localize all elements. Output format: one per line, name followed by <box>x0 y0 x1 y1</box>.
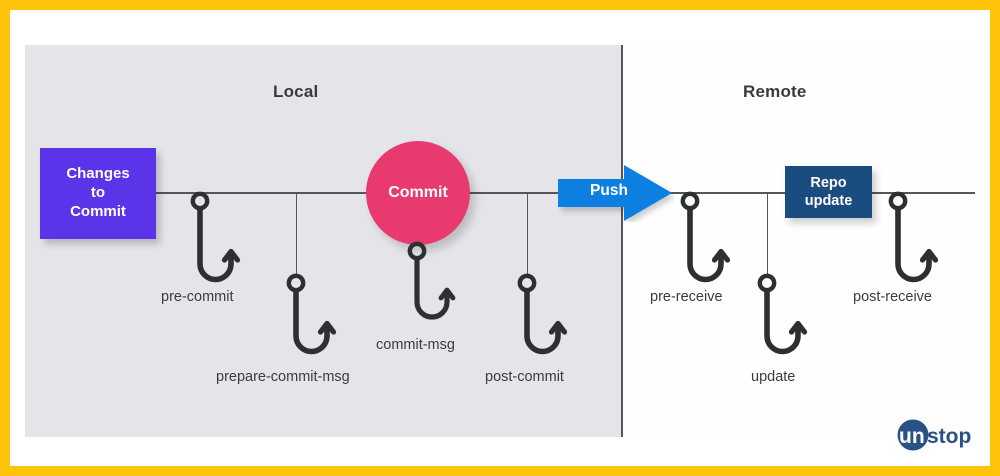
remote-section-title: Remote <box>743 82 807 102</box>
changes-box-line-2: to <box>91 184 105 203</box>
commit-node: Commit <box>366 141 470 245</box>
changes-box-line-1: Changes <box>66 165 129 184</box>
commit-node-label: Commit <box>388 184 448 202</box>
hook-label-post-commit: post-commit <box>485 369 564 385</box>
hook-label-pre-commit: pre-commit <box>161 289 234 305</box>
hook-label-commit-msg: commit-msg <box>376 337 455 353</box>
hook-icon-pre-commit <box>186 190 246 298</box>
connector-prepare-commit-msg <box>296 192 297 274</box>
hook-icon-update <box>753 272 813 370</box>
hook-icon-post-receive <box>884 190 944 298</box>
frame-border-right <box>990 0 1000 476</box>
unstop-logo-stop-text: stop <box>927 425 971 448</box>
changes-to-commit-box: Changes to Commit <box>40 148 156 239</box>
repo-box-line-2: update <box>805 192 853 210</box>
local-section-title: Local <box>273 82 318 102</box>
hook-label-pre-receive: pre-receive <box>650 289 723 305</box>
hook-label-post-receive: post-receive <box>853 289 932 305</box>
frame-border-top <box>0 0 1000 10</box>
local-remote-divider <box>621 45 623 437</box>
hook-icon-prepare-commit-msg <box>282 272 342 370</box>
frame-border-left <box>0 0 10 476</box>
connector-update <box>767 192 768 274</box>
repo-update-box: Repo update <box>785 166 872 218</box>
hook-icon-post-commit <box>513 272 573 370</box>
hook-icon-commit-msg <box>403 240 463 332</box>
hook-label-prepare-commit-msg: prepare-commit-msg <box>216 369 350 385</box>
hook-label-update: update <box>751 369 795 385</box>
changes-box-line-3: Commit <box>70 203 126 222</box>
frame-border-bottom <box>0 466 1000 476</box>
hook-icon-pre-receive <box>676 190 736 298</box>
connector-post-commit <box>527 192 528 274</box>
repo-box-line-1: Repo <box>810 174 846 192</box>
unstop-logo-un-text: un <box>899 425 925 448</box>
push-arrow-icon <box>558 164 674 222</box>
diagram-canvas: Local Remote Changes to Commit Commit Pu… <box>0 0 1000 476</box>
unstop-logo: un stop <box>893 419 977 453</box>
